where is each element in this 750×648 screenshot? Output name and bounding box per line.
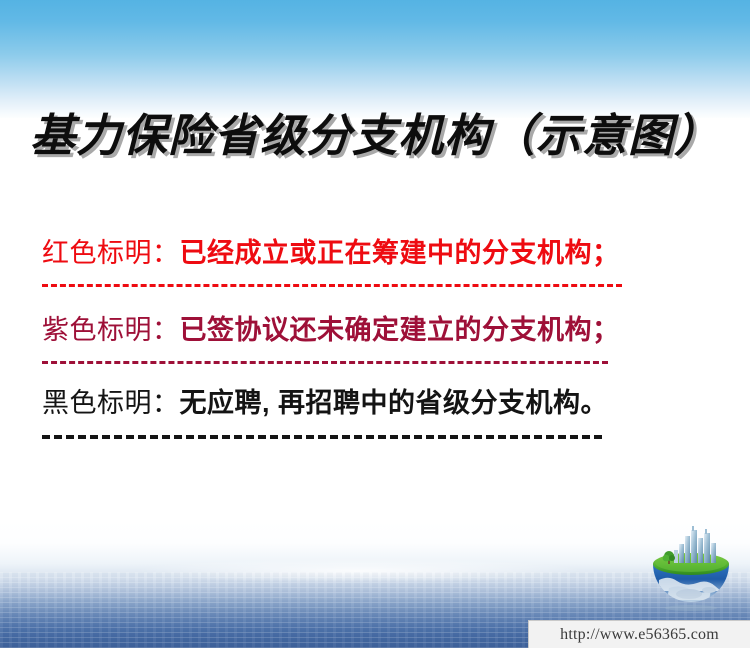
legend-spacer-red	[42, 287, 682, 313]
legend-row-purple: 紫色标明：已签协议还未确定建立的分支机构；	[42, 313, 682, 386]
slide-canvas: 基力保险省级分支机构（示意图） 红色标明：已经成立或正在筹建中的分支机构； 紫色…	[0, 0, 750, 648]
legend-desc-red: 已经成立或正在筹建中的分支机构；	[180, 238, 620, 268]
legend-divider-black	[42, 435, 602, 439]
legend-spacer-purple	[42, 364, 682, 386]
legend-label-red: 红色标明：	[42, 238, 180, 268]
globe-city-logo-icon	[645, 524, 737, 616]
legend-row-black: 黑色标明：无应聘, 再招聘中的省级分支机构。	[42, 386, 682, 439]
legend-desc-black: 无应聘, 再招聘中的省级分支机构。	[180, 388, 609, 418]
legend-text-purple: 紫色标明：已签协议还未确定建立的分支机构；	[42, 313, 682, 347]
legend-list: 红色标明：已经成立或正在筹建中的分支机构； 紫色标明：已签协议还未确定建立的分支…	[42, 236, 682, 439]
watermark-bar: http://www.e56365.com	[528, 620, 750, 648]
page-title: 基力保险省级分支机构（示意图）	[0, 99, 750, 164]
legend-label-black: 黑色标明：	[42, 388, 180, 418]
legend-row-red: 红色标明：已经成立或正在筹建中的分支机构；	[42, 236, 682, 313]
watermark-url: http://www.e56365.com	[560, 626, 719, 644]
legend-text-black: 黑色标明：无应聘, 再招聘中的省级分支机构。	[42, 386, 682, 420]
legend-text-red: 红色标明：已经成立或正在筹建中的分支机构；	[42, 236, 682, 270]
legend-desc-purple: 已签协议还未确定建立的分支机构；	[180, 315, 620, 345]
legend-label-purple: 紫色标明：	[42, 315, 180, 345]
